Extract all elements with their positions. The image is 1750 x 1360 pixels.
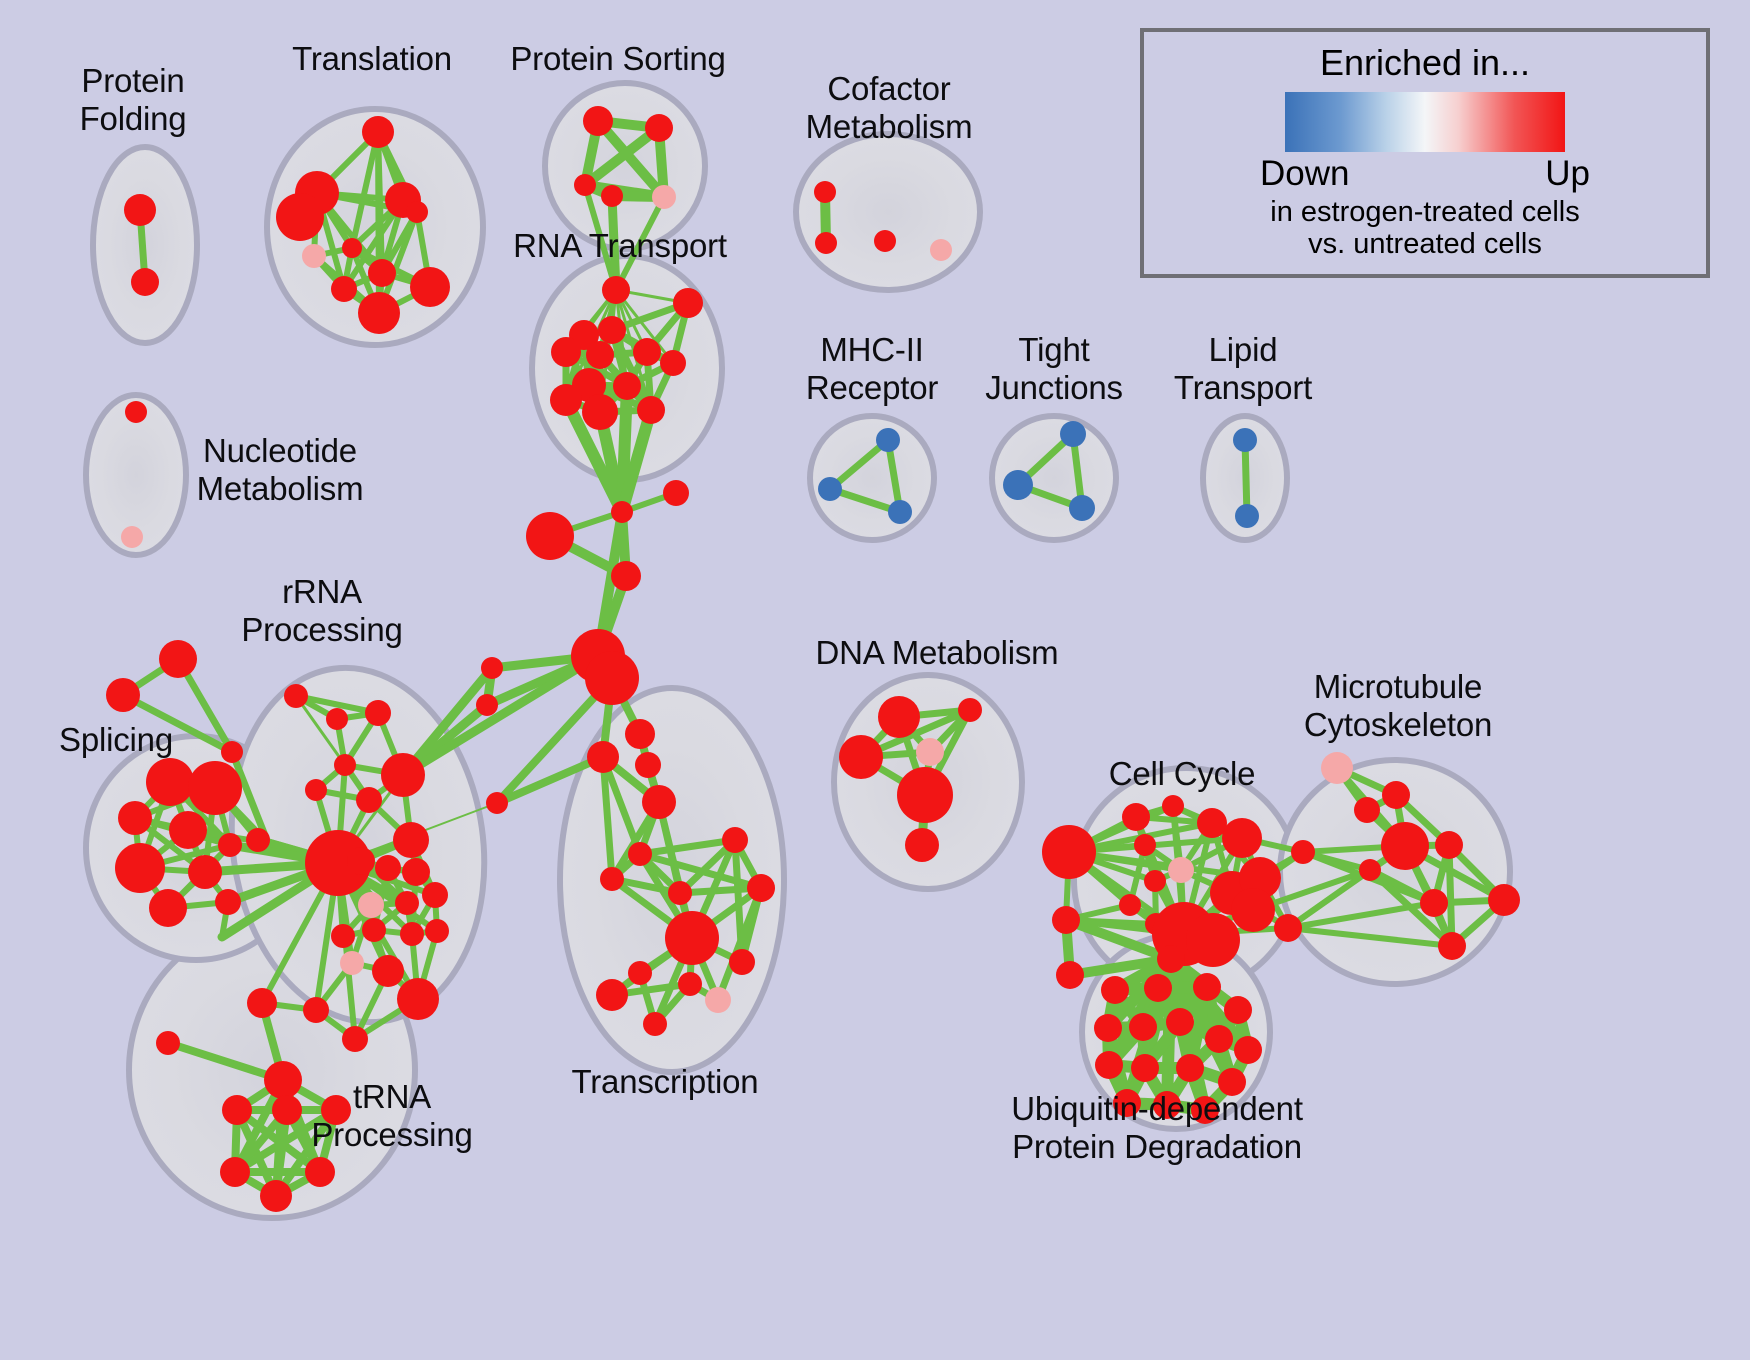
- legend-title: Enriched in...: [1320, 42, 1530, 84]
- cluster-label-rrna-processing: rRNA Processing: [241, 573, 402, 648]
- cluster-label-ubiquitin-degradation: Ubiquitin-dependent Protein Degradation: [1011, 1090, 1303, 1165]
- cluster-label-cofactor-metabolism: Cofactor Metabolism: [806, 70, 973, 145]
- legend-sub-line2: vs. untreated cells: [1308, 228, 1542, 260]
- cluster-label-lipid-transport: Lipid Transport: [1174, 331, 1312, 406]
- legend-sub-line1: in estrogen-treated cells: [1270, 196, 1580, 228]
- cluster-label-cell-cycle: Cell Cycle: [1109, 755, 1256, 793]
- hull-protein-sorting: [545, 83, 705, 249]
- legend-low-label: Down: [1260, 154, 1349, 194]
- cluster-label-protein-sorting: Protein Sorting: [510, 40, 725, 78]
- legend-subtitle: in estrogen-treated cellsvs. untreated c…: [1270, 196, 1580, 261]
- enrichment-network-figure: Protein Folding Translation Protein Sort…: [0, 0, 1750, 1360]
- legend-colorbar: [1285, 92, 1565, 152]
- cluster-label-trna-processing: tRNA Processing: [311, 1078, 472, 1153]
- cluster-label-translation: Translation: [292, 40, 452, 78]
- cluster-label-nucleotide-metabolism: Nucleotide Metabolism: [197, 432, 364, 507]
- cluster-label-transcription: Transcription: [572, 1063, 759, 1101]
- cluster-label-mhc-ii-receptor: MHC-II Receptor: [806, 331, 938, 406]
- cluster-label-splicing: Splicing: [59, 721, 173, 759]
- cluster-label-dna-metabolism: DNA Metabolism: [816, 634, 1059, 672]
- cluster-label-tight-junctions: Tight Junctions: [985, 331, 1123, 406]
- cluster-label-microtubule-cytoskeleton: Microtubule Cytoskeleton: [1304, 668, 1492, 743]
- color-legend: Enriched in... Down Up in estrogen-treat…: [1140, 28, 1710, 278]
- cluster-label-protein-folding: Protein Folding: [80, 62, 187, 137]
- cluster-label-rna-transport: RNA Transport: [513, 227, 727, 265]
- legend-high-label: Up: [1545, 154, 1590, 194]
